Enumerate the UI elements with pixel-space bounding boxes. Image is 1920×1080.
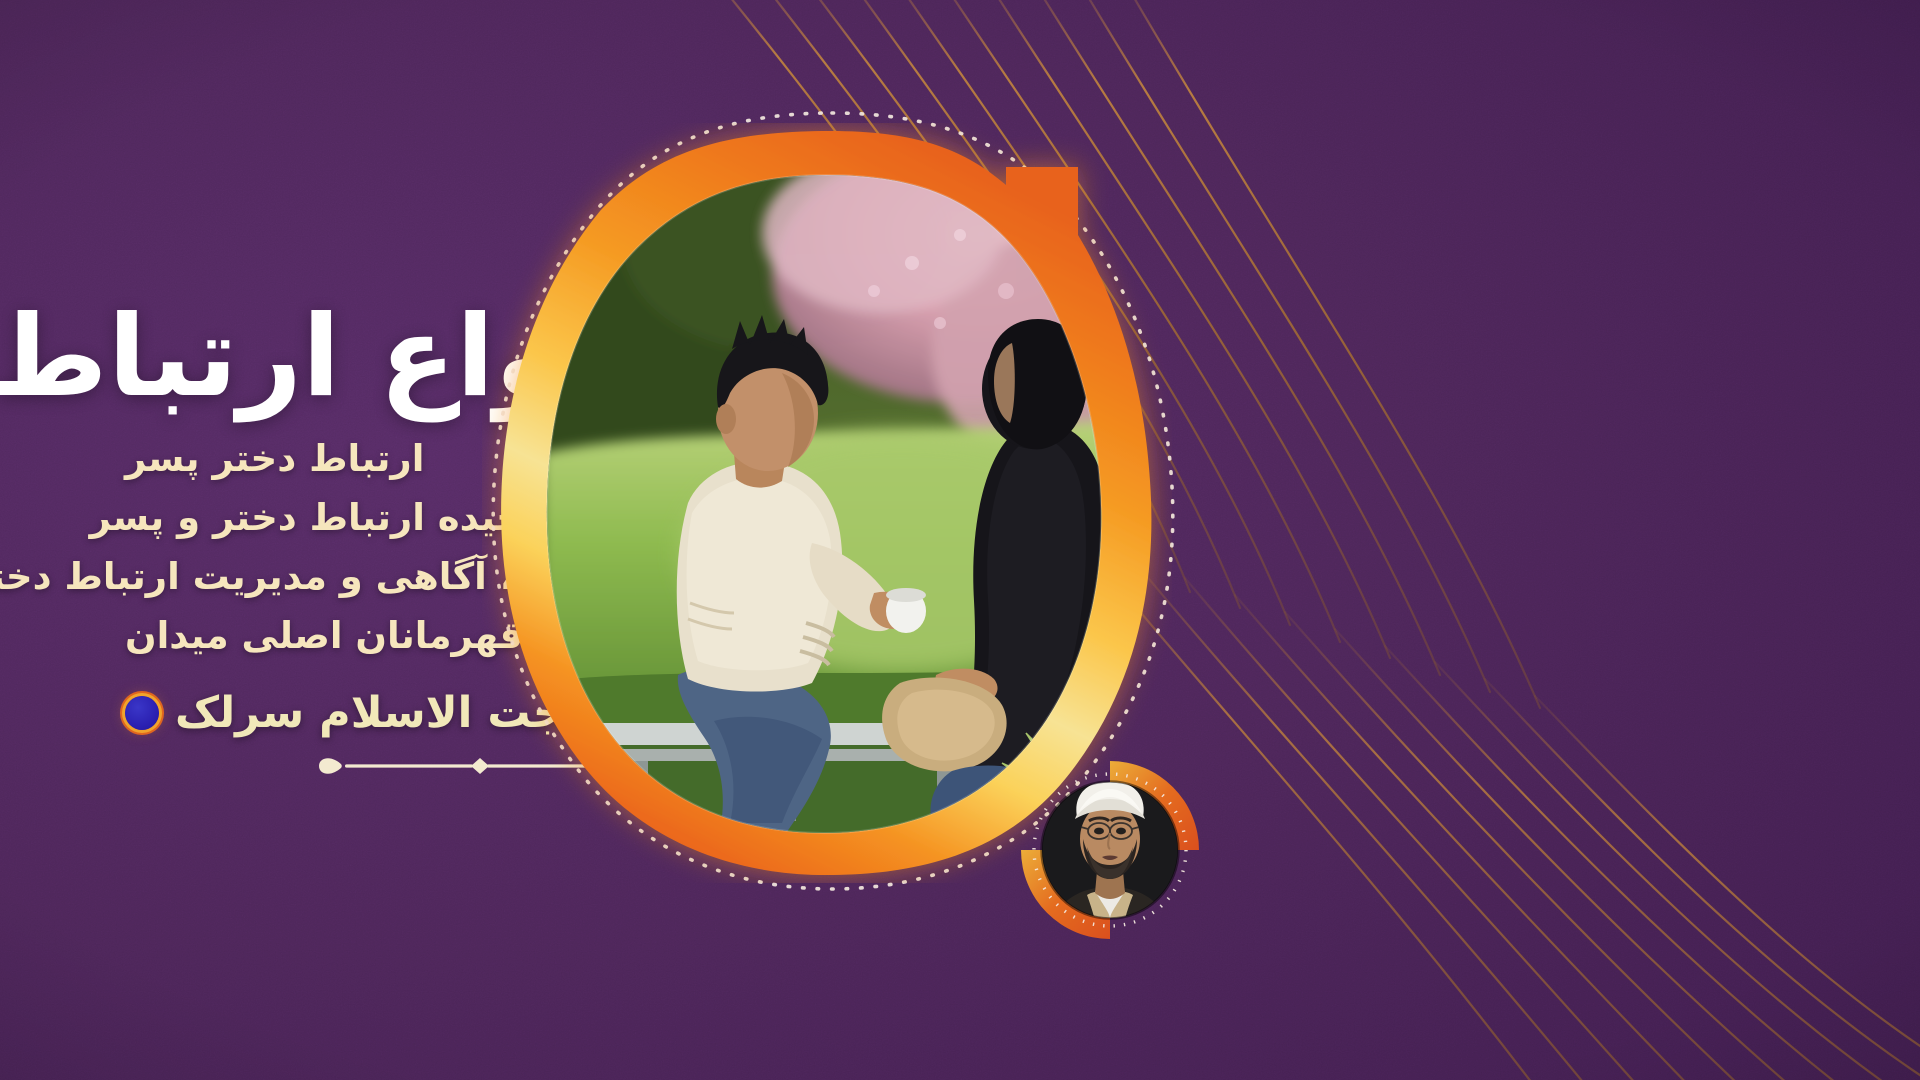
poster-canvas: انواع ارتباط ارتباط دختر پسر ابعاد پیچید… <box>0 0 1920 1080</box>
portrait-photo <box>1015 755 1205 945</box>
photo-frame-group <box>460 95 1200 905</box>
speaker-portrait-badge <box>1015 755 1205 945</box>
blue-circle-badge-icon <box>125 696 159 730</box>
